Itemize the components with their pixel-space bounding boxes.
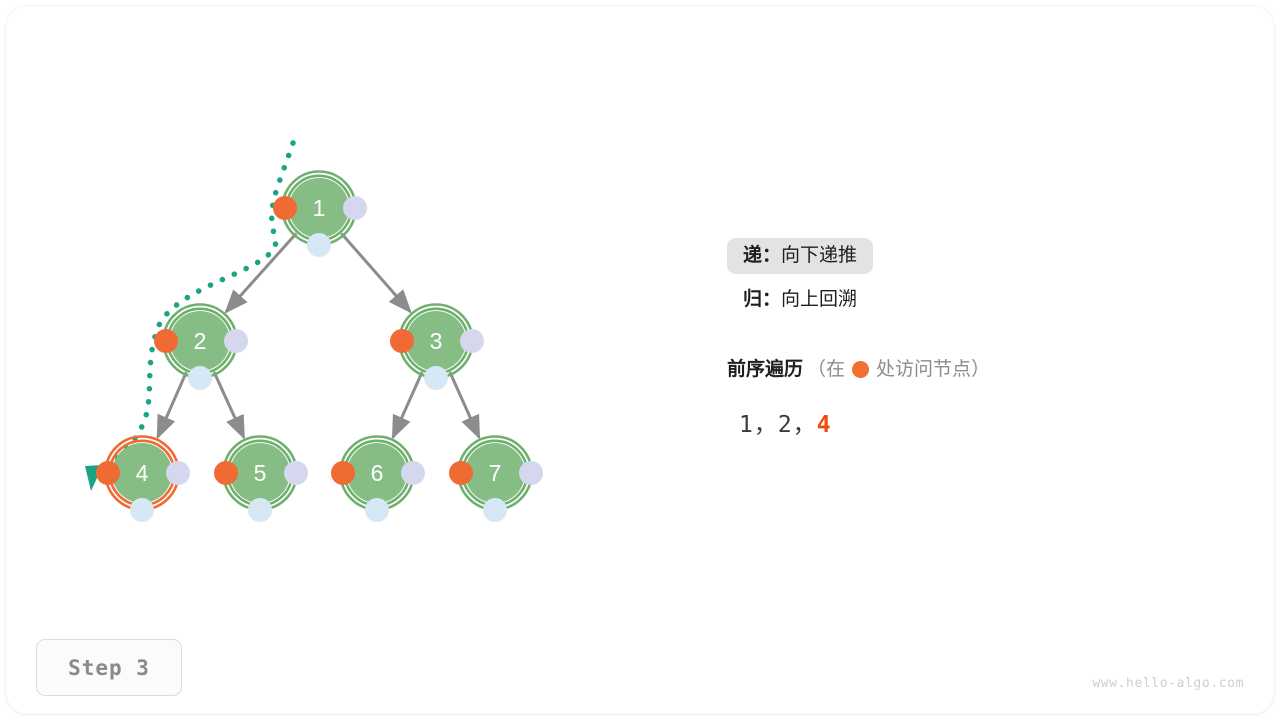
node-visit-dot — [154, 329, 178, 353]
node-visit-dot — [390, 329, 414, 353]
node-right-dot — [401, 461, 425, 485]
node-visit-dot — [214, 461, 238, 485]
node-bottom-dot — [307, 233, 331, 257]
legend-row-up: 归：向上回溯 — [727, 278, 1157, 322]
legend-down-text: 向下递推 — [781, 245, 857, 266]
legend-down-key: 递： — [743, 245, 781, 266]
traversal-title-strong: 前序遍历 — [727, 360, 803, 379]
step-badge-label: Step 3 — [68, 656, 150, 680]
tree-edge — [393, 372, 422, 437]
orange-dot-icon — [852, 361, 869, 378]
node-right-dot — [224, 329, 248, 353]
node-bottom-dot — [365, 498, 389, 522]
legend-badge-down: 递：向下递推 — [727, 238, 873, 274]
traversal-sequence: 1，2，4 — [739, 405, 1197, 439]
footer-url: www.hello-algo.com — [1092, 676, 1244, 691]
node-label: 5 — [254, 460, 267, 486]
legend-up-text: 向上回溯 — [781, 289, 857, 310]
legend-row-down: 递：向下递推 — [727, 234, 1157, 278]
node-label: 1 — [313, 195, 326, 221]
traversal-sequence-current: 4 — [817, 412, 832, 438]
page-root: 1234567 递：向下递推 归：向上回溯 前序遍历 （在 处访问节点） 1，2… — [0, 0, 1280, 720]
tree-node-7[interactable]: 7 — [449, 437, 543, 523]
node-bottom-dot — [483, 498, 507, 522]
tree-edge — [214, 372, 244, 438]
node-bottom-dot — [424, 366, 448, 390]
node-label: 6 — [371, 460, 384, 486]
node-visit-dot — [273, 196, 297, 220]
node-label: 4 — [136, 460, 149, 486]
node-visit-dot — [96, 461, 120, 485]
node-visit-dot — [449, 461, 473, 485]
node-right-dot — [519, 461, 543, 485]
node-bottom-dot — [248, 498, 272, 522]
node-bottom-dot — [130, 498, 154, 522]
legend-panel: 递：向下递推 归：向上回溯 — [727, 234, 1157, 322]
node-label: 7 — [489, 460, 502, 486]
tree-node-5[interactable]: 5 — [214, 437, 308, 523]
node-label: 2 — [194, 328, 207, 354]
traversal-sequence-done: 1，2， — [739, 412, 817, 438]
tree-node-3[interactable]: 3 — [390, 305, 484, 391]
node-bottom-dot — [188, 366, 212, 390]
step-badge: Step 3 — [36, 639, 182, 696]
tree-node-4[interactable]: 4 — [96, 437, 190, 523]
node-label: 3 — [430, 328, 443, 354]
legend-up-key: 归： — [743, 289, 781, 310]
traversal-title: 前序遍历 （在 处访问节点） — [727, 360, 1197, 379]
tree-node-2[interactable]: 2 — [154, 305, 248, 391]
traversal-title-suffix: 处访问节点） — [876, 360, 990, 379]
tree-edge — [341, 234, 410, 312]
node-right-dot — [343, 196, 367, 220]
node-visit-dot — [331, 461, 355, 485]
tree-edge — [450, 372, 479, 437]
traversal-block: 前序遍历 （在 处访问节点） 1，2，4 — [727, 360, 1197, 439]
node-right-dot — [284, 461, 308, 485]
traversal-title-prefix: （在 — [807, 360, 845, 379]
tree-nodes: 1234567 — [96, 172, 543, 523]
legend-label-up: 归：向上回溯 — [727, 282, 873, 318]
tree-node-6[interactable]: 6 — [331, 437, 425, 523]
node-right-dot — [166, 461, 190, 485]
tree-edge — [158, 372, 187, 437]
node-right-dot — [460, 329, 484, 353]
